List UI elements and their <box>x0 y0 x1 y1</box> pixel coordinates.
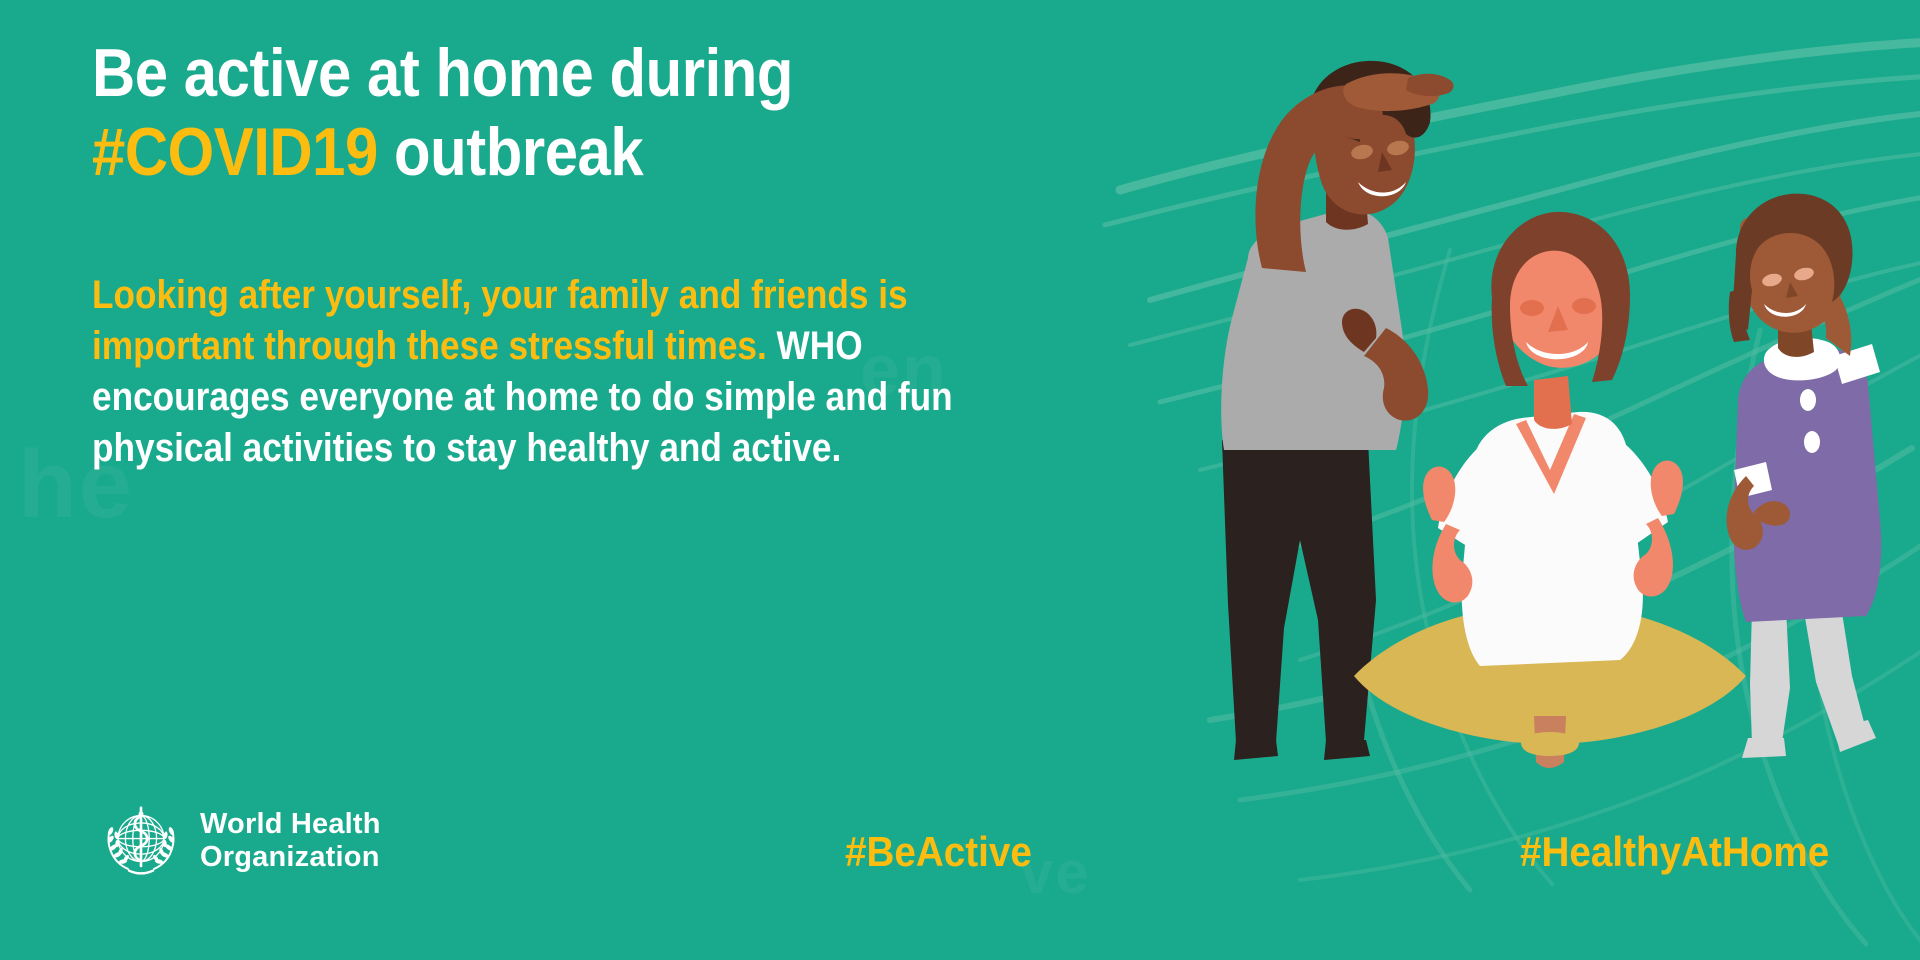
illustration-svg <box>1150 0 1920 830</box>
who-logo: World Health Organization <box>100 800 381 882</box>
who-wordmark-line-2: Organization <box>200 841 381 874</box>
who-emblem-icon <box>100 800 182 882</box>
who-wordmark: World Health Organization <box>200 808 381 874</box>
hashtag-beactive[interactable]: #BeActive <box>845 828 1032 876</box>
headline-hashtag-covid19: #COVID19 <box>92 114 378 190</box>
hashtag-healthyathome[interactable]: #HealthyAtHome <box>1520 828 1829 876</box>
headline-outbreak: outbreak <box>378 114 643 190</box>
headline-line-1: Be active at home during <box>92 34 910 113</box>
text-column: Be active at home during #COVID19 outbre… <box>92 34 1022 475</box>
body-paragraph: Looking after yourself, your family and … <box>92 270 981 475</box>
poster-canvas: he ve en Be active at home during #COVID… <box>0 0 1920 960</box>
headline-line-2: #COVID19 outbreak <box>92 113 910 192</box>
who-wordmark-line-1: World Health <box>200 808 381 841</box>
illustration-family-exercising <box>1150 0 1920 830</box>
figure-girl <box>1727 194 1882 758</box>
figure-seated-woman <box>1354 212 1746 768</box>
page-title: Be active at home during #COVID19 outbre… <box>92 34 910 192</box>
